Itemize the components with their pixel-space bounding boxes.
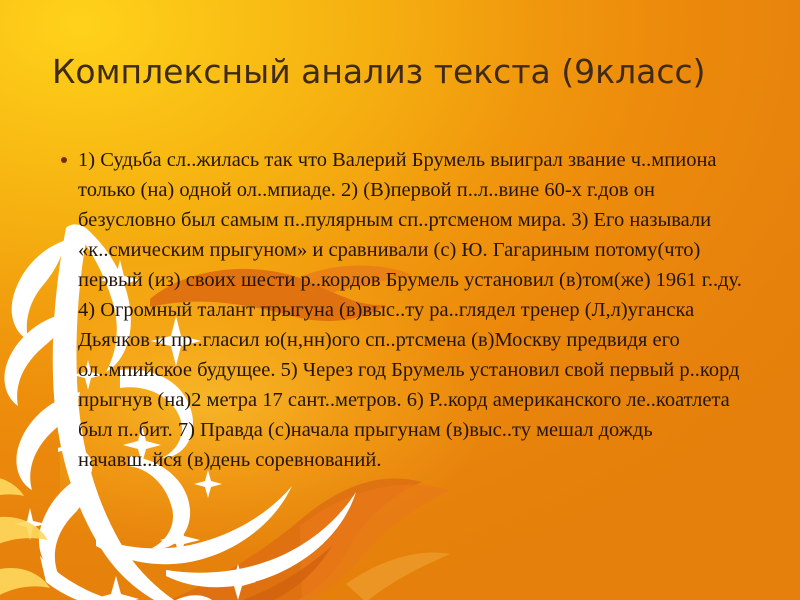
slide-body: 1) Судьба сл..жилась так что Валерий Бру…	[56, 145, 756, 475]
bullet-point-icon	[61, 157, 67, 163]
paragraph-1-text: 1) Судьба сл..жилась так что Валерий Бру…	[78, 149, 742, 291]
slide-title: Комплексный анализ текста (9класс)	[52, 52, 772, 92]
bulleted-paragraph-1: 1) Судьба сл..жилась так что Валерий Бру…	[56, 145, 756, 295]
slide-canvas: Комплексный анализ текста (9класс) 1) Су…	[0, 0, 800, 600]
paragraph-2-text: 4) Огромный талант прыгуна (в)выс..ту ра…	[78, 299, 740, 471]
paragraph-2: 4) Огромный талант прыгуна (в)выс..ту ра…	[56, 295, 756, 475]
